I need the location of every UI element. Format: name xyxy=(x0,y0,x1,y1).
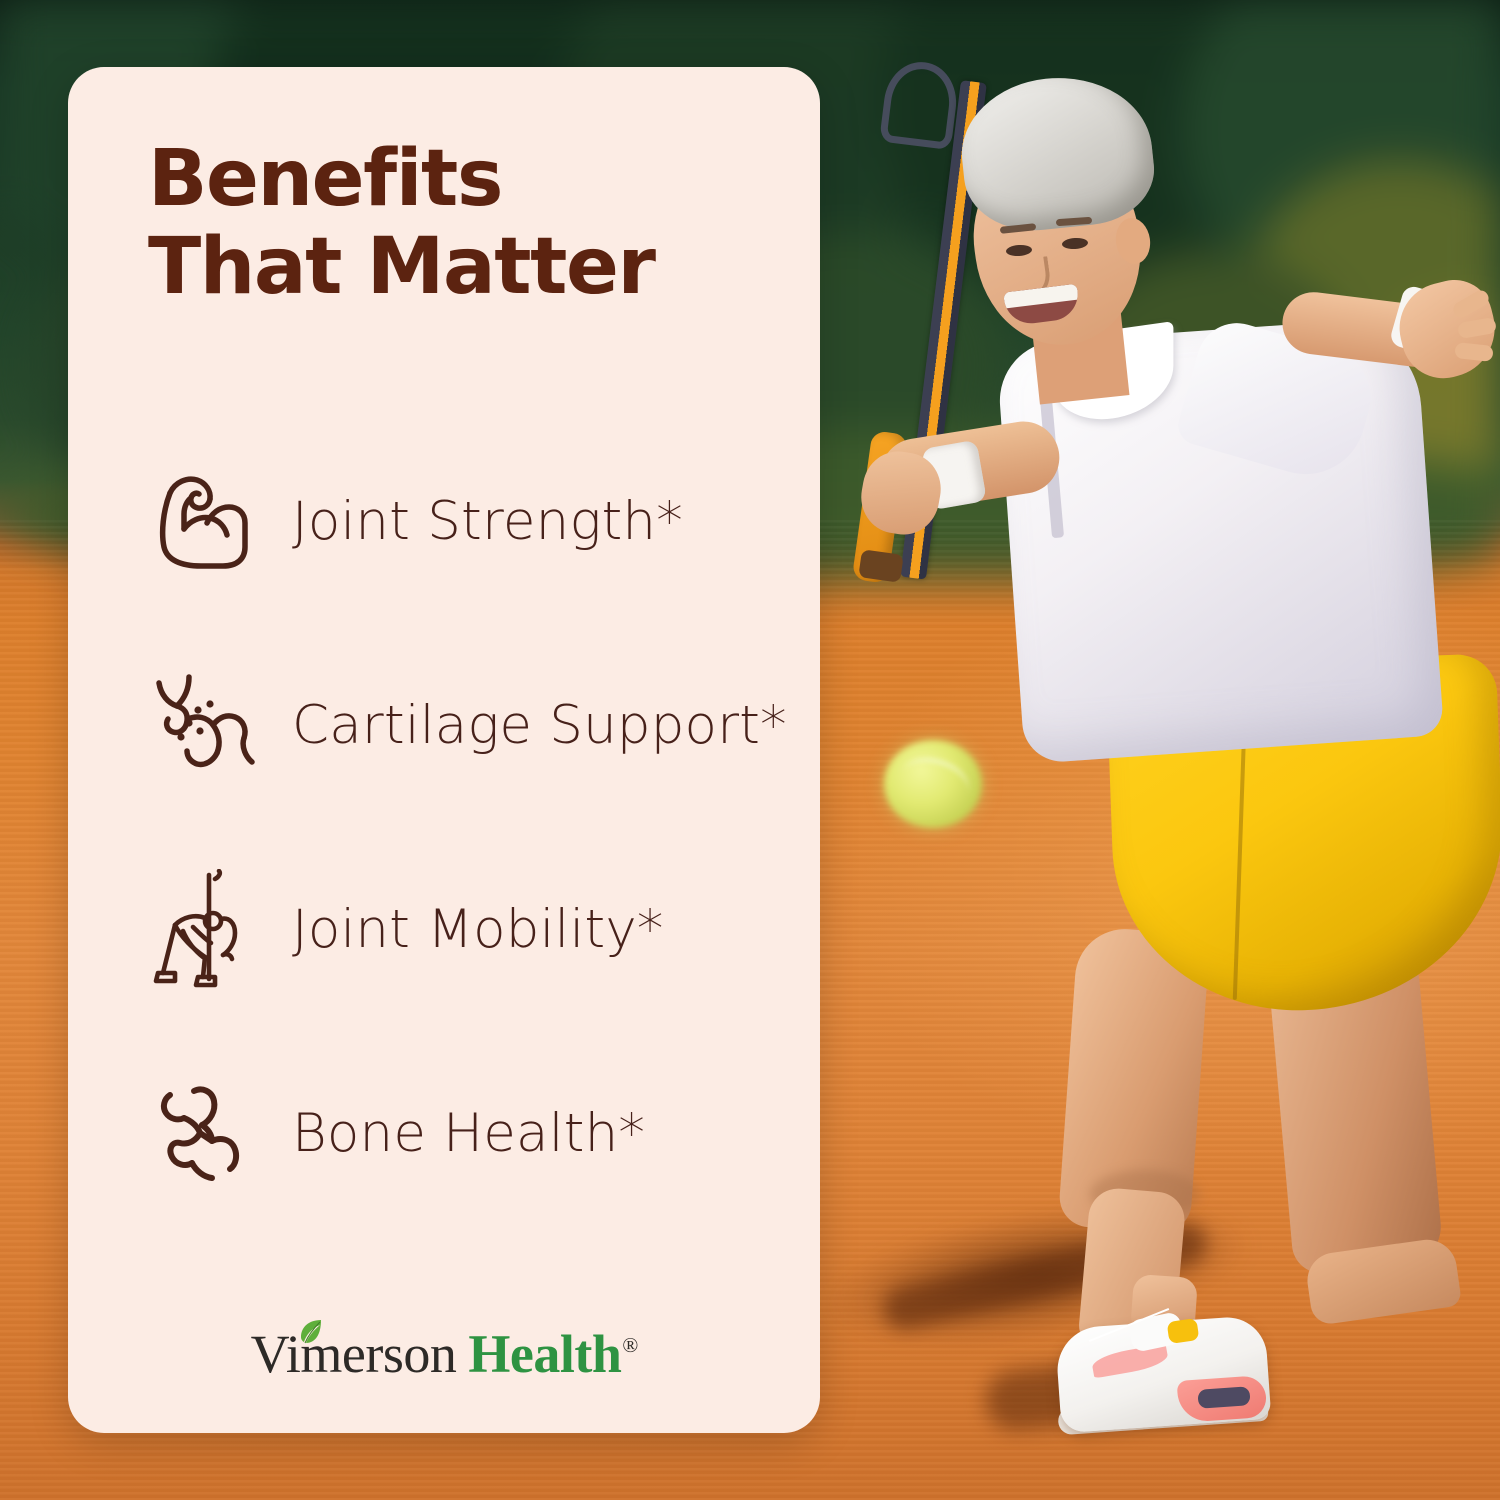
shoe-air-unit xyxy=(1197,1386,1250,1409)
green-leaf-icon xyxy=(298,1318,324,1344)
list-item: Cartilage Support* xyxy=(68,623,820,827)
registered-trademark-mark: ® xyxy=(622,1333,638,1357)
knee-cartilage-icon xyxy=(146,666,264,784)
list-item: Joint Strength* xyxy=(68,419,820,623)
list-item: Bone Health* xyxy=(68,1031,820,1235)
tennis-racket-head xyxy=(879,58,961,150)
flexed-bicep-icon xyxy=(146,462,264,580)
tennis-racket-butt-cap xyxy=(858,549,903,583)
benefit-label: Bone Health* xyxy=(292,1103,645,1164)
brand-logo: VimersonHealth® xyxy=(68,1327,820,1381)
logo-word-two: Health xyxy=(468,1324,621,1384)
yoga-triangle-pose-icon xyxy=(146,870,264,988)
logo-word-one: Vimerson xyxy=(251,1324,457,1384)
page-title: Benefits That Matter xyxy=(148,135,768,311)
benefits-list: Joint Strength* xyxy=(68,419,820,1235)
logo-inner: VimersonHealth® xyxy=(251,1327,638,1381)
benefit-label: Cartilage Support* xyxy=(292,695,787,756)
bone-joint-icon xyxy=(146,1074,264,1192)
benefits-card: Benefits That Matter Joint Strength* xyxy=(68,67,820,1433)
benefit-label: Joint Mobility* xyxy=(292,899,664,960)
benefit-label: Joint Strength* xyxy=(292,491,683,552)
product-benefits-infographic: Benefits That Matter Joint Strength* xyxy=(0,0,1500,1500)
list-item: Joint Mobility* xyxy=(68,827,820,1031)
